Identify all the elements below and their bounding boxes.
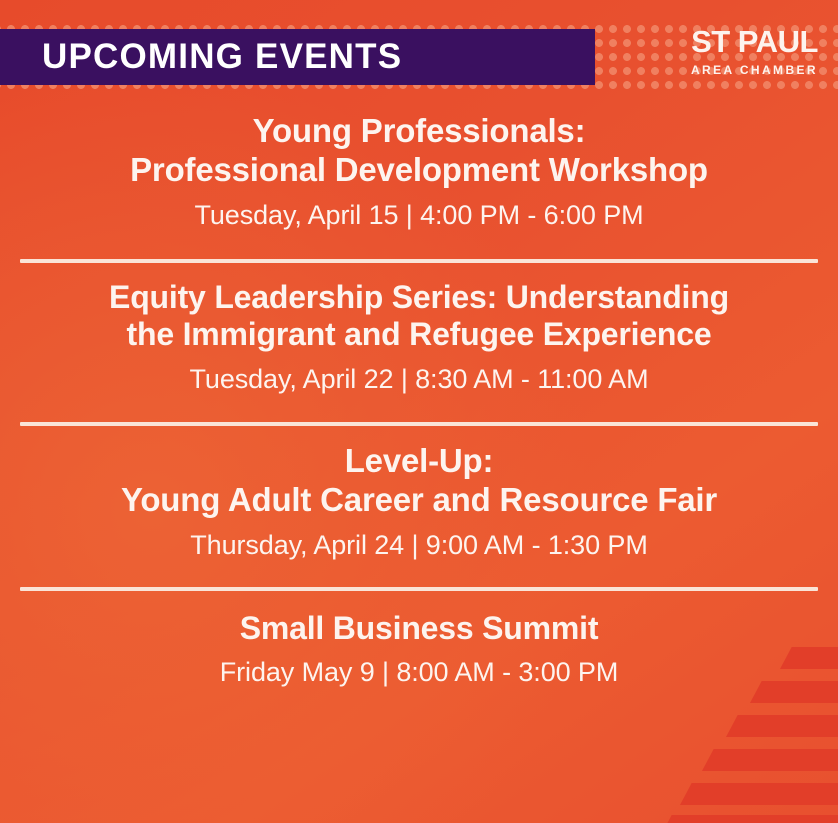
poster-header: UPCOMING EVENTS ST PAUL AREA CHAMBER [0,0,838,96]
event-datetime: Tuesday, April 22 | 8:30 AM - 11:00 AM [28,363,810,397]
logo-primary-text: ST PAUL [691,26,818,57]
banner-title-bar: UPCOMING EVENTS [0,29,595,85]
upcoming-events-poster: UPCOMING EVENTS ST PAUL AREA CHAMBER You… [0,0,838,823]
stair-step-3 [726,715,838,737]
stair-step-5 [680,783,838,805]
event-item: Level-Up: Young Adult Career and Resourc… [0,426,838,563]
event-datetime: Tuesday, April 15 | 4:00 PM - 6:00 PM [28,199,810,233]
page-title: UPCOMING EVENTS [0,37,402,77]
stair-step-6 [660,815,838,823]
event-title: Young Professionals: Professional Develo… [28,112,810,190]
event-datetime: Thursday, April 24 | 9:00 AM - 1:30 PM [28,529,810,563]
event-item: Equity Leadership Series: Understanding … [0,263,838,397]
stair-step-4 [702,749,838,771]
events-list: Young Professionals: Professional Develo… [0,96,838,690]
event-datetime: Friday May 9 | 8:00 AM - 3:00 PM [28,656,810,690]
st-paul-area-chamber-logo: ST PAUL AREA CHAMBER [691,26,818,76]
event-title: Equity Leadership Series: Understanding … [28,279,810,355]
event-item: Small Business Summit Friday May 9 | 8:0… [0,591,838,691]
event-item: Young Professionals: Professional Develo… [0,96,838,233]
logo-secondary-text: AREA CHAMBER [691,64,818,76]
event-title: Small Business Summit [28,610,810,648]
event-title: Level-Up: Young Adult Career and Resourc… [28,442,810,520]
